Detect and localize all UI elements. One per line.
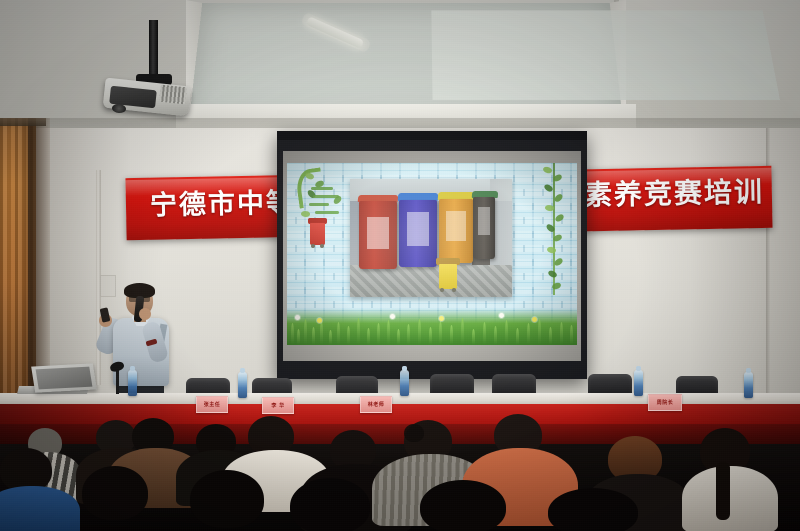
braid-icon bbox=[716, 462, 730, 520]
cartoon-bin-yellow bbox=[439, 264, 457, 289]
projector-mount-pole bbox=[149, 20, 158, 80]
water-bottle bbox=[238, 372, 247, 398]
attendee-front-1 bbox=[82, 466, 148, 520]
ceiling-inner-panel bbox=[431, 10, 780, 100]
banner-text-right: 素养竞赛培训 bbox=[584, 170, 771, 218]
ceiling-recessed-panel bbox=[189, 3, 622, 119]
recyclable-bin-red bbox=[359, 201, 397, 269]
microphone-stand bbox=[116, 368, 119, 394]
attendee-braided-hair-blouse bbox=[682, 466, 778, 531]
water-bottle bbox=[128, 370, 137, 396]
attendee-front-5 bbox=[548, 488, 638, 531]
water-bottle bbox=[400, 370, 409, 396]
table-name-card: 周院长 bbox=[648, 394, 682, 411]
attendee-front-3 bbox=[290, 478, 370, 531]
table-name-card: 张主任 bbox=[196, 396, 228, 413]
attendee-dark-4 bbox=[404, 424, 424, 442]
water-bottle bbox=[744, 372, 753, 398]
presenter-hand-holding-mic bbox=[139, 308, 151, 320]
laptop-screen bbox=[36, 367, 93, 390]
table-name-card: 林老师 bbox=[360, 396, 392, 413]
attendee-front-2 bbox=[190, 470, 264, 528]
projection-screen-roller bbox=[277, 131, 587, 140]
cartoon-bin-red bbox=[310, 223, 325, 245]
water-bottle bbox=[634, 370, 643, 396]
slide-grass-strip bbox=[287, 309, 577, 345]
other-waste-bin-dark bbox=[473, 197, 495, 259]
projection-screen-surface bbox=[283, 151, 581, 361]
attendee-front-4 bbox=[420, 480, 506, 531]
table-name-card: 李 华 bbox=[262, 397, 294, 414]
kitchen-waste-bin-orange bbox=[439, 199, 473, 263]
lecture-hall-photo: 宁德市中等职 素养竞赛培训 bbox=[0, 0, 800, 531]
photo-paved-ground bbox=[350, 265, 512, 297]
projector-vent bbox=[159, 85, 187, 105]
slide-hanging-vine-right bbox=[535, 163, 571, 298]
curtain-rail bbox=[0, 118, 46, 126]
slide-photo-waste-bins bbox=[350, 179, 512, 297]
presentation-slide bbox=[287, 163, 577, 345]
hazardous-bin-blue bbox=[399, 200, 437, 267]
